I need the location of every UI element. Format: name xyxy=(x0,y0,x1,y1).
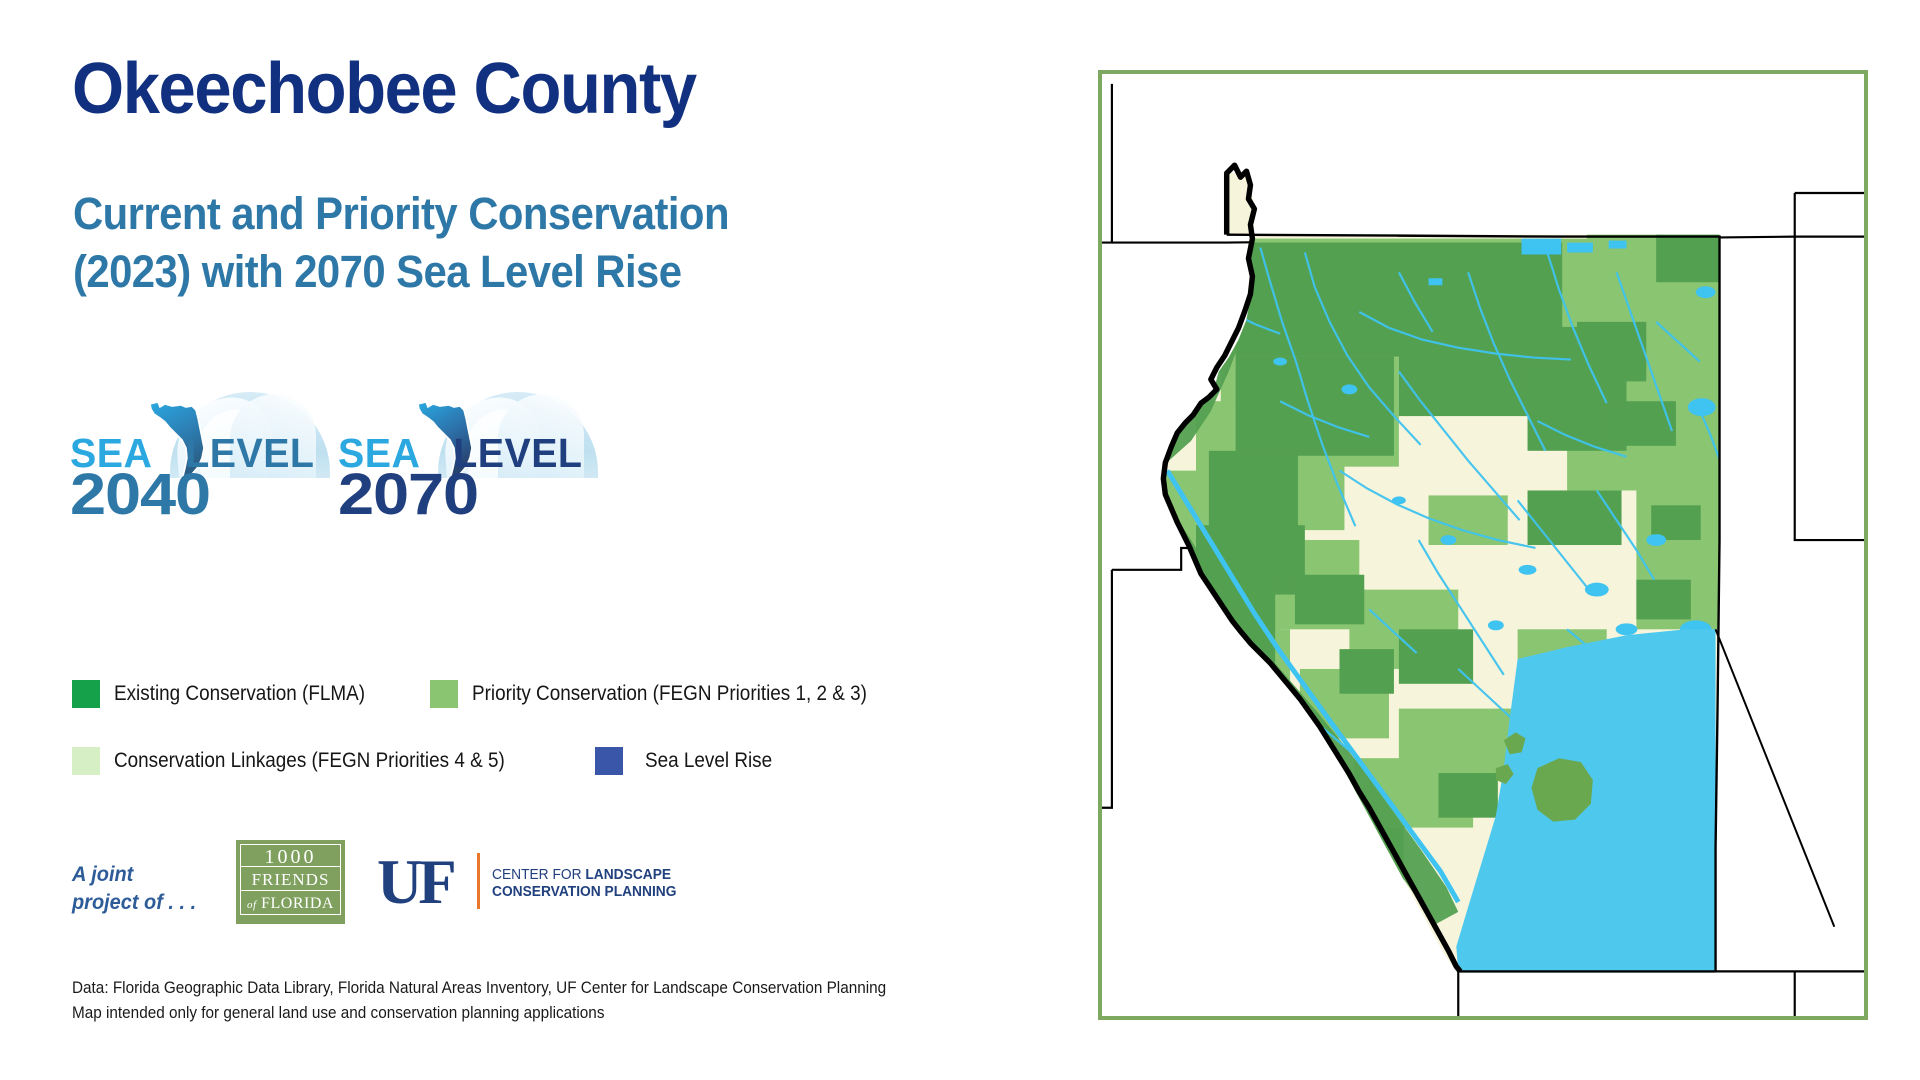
sea-level-2040-logo: SEA LEVEL 2040 xyxy=(70,388,350,516)
kfof-line-2: FRIENDS xyxy=(240,867,341,891)
page-subtitle: Current and Priority Conservation (2023)… xyxy=(73,185,984,300)
legend-swatch-icon xyxy=(430,680,458,708)
joint-line-1: A joint xyxy=(72,861,196,889)
thousand-friends-of-florida-logo: 1000 FRIENDS of FLORIDA xyxy=(234,838,347,926)
subtitle-line-2: (2023) with 2070 Sea Level Rise xyxy=(73,243,984,301)
kfof-line-3: of FLORIDA xyxy=(240,891,341,915)
legend-label: Sea Level Rise xyxy=(645,749,772,773)
footnote-line-2: Map intended only for general land use a… xyxy=(72,1000,886,1025)
uf-line-1-bold: LANDSCAPE xyxy=(585,867,671,883)
uf-line-1-plain: CENTER FOR xyxy=(492,867,585,883)
partner-logos: A joint project of . . . 1000 FRIENDS of… xyxy=(72,845,832,925)
legend-item-sea-level-rise: Sea Level Rise xyxy=(595,747,786,775)
uf-divider xyxy=(477,853,480,909)
okeechobee-county-map xyxy=(1102,74,1864,1016)
year-2040-text: 2040 xyxy=(70,466,210,524)
data-source-footnote: Data: Florida Geographic Data Library, F… xyxy=(72,975,886,1025)
legend-item-conservation-linkages: Conservation Linkages (FEGN Priorities 4… xyxy=(72,747,548,775)
kfof-florida-text: FLORIDA xyxy=(261,895,334,912)
joint-line-2: project of . . . xyxy=(72,889,196,917)
page-title: Okeechobee County xyxy=(72,52,696,128)
subtitle-line-1: Current and Priority Conservation xyxy=(73,185,984,243)
legend-row-2: Conservation Linkages (FEGN Priorities 4… xyxy=(72,747,892,802)
legend-item-priority-conservation: Priority Conservation (FEGN Priorities 1… xyxy=(430,680,911,708)
legend-item-existing-conservation: Existing Conservation (FLMA) xyxy=(72,680,393,708)
infographic-page: Okeechobee County Current and Priority C… xyxy=(0,0,1920,1080)
joint-project-text: A joint project of . . . xyxy=(72,861,196,918)
kfof-line-1: 1000 xyxy=(240,844,341,867)
legend-label: Conservation Linkages (FEGN Priorities 4… xyxy=(114,749,505,773)
legend-swatch-icon xyxy=(72,747,100,775)
county-map-frame xyxy=(1098,70,1868,1020)
legend-swatch-icon xyxy=(72,680,100,708)
kfof-of-text: of xyxy=(247,899,257,911)
uf-line-2: CONSERVATION PLANNING xyxy=(492,884,676,901)
brand-logo-group: SEA LEVEL 2040 xyxy=(70,388,690,518)
legend-swatch-icon xyxy=(595,747,623,775)
sea-level-2070-logo: SEA LEVEL 2070 xyxy=(338,388,618,516)
legend-label: Existing Conservation (FLMA) xyxy=(114,682,365,706)
legend-label: Priority Conservation (FEGN Priorities 1… xyxy=(472,682,867,706)
year-2070-text: 2070 xyxy=(338,466,478,524)
left-panel: Okeechobee County Current and Priority C… xyxy=(0,0,1090,1080)
uf-center-name: CENTER FOR LANDSCAPE CONSERVATION PLANNI… xyxy=(492,867,676,901)
footnote-line-1: Data: Florida Geographic Data Library, F… xyxy=(72,975,886,1000)
uf-monogram: UF xyxy=(377,849,453,915)
map-legend: Existing Conservation (FLMA) Priority Co… xyxy=(72,680,892,802)
legend-row-1: Existing Conservation (FLMA) Priority Co… xyxy=(72,680,892,735)
